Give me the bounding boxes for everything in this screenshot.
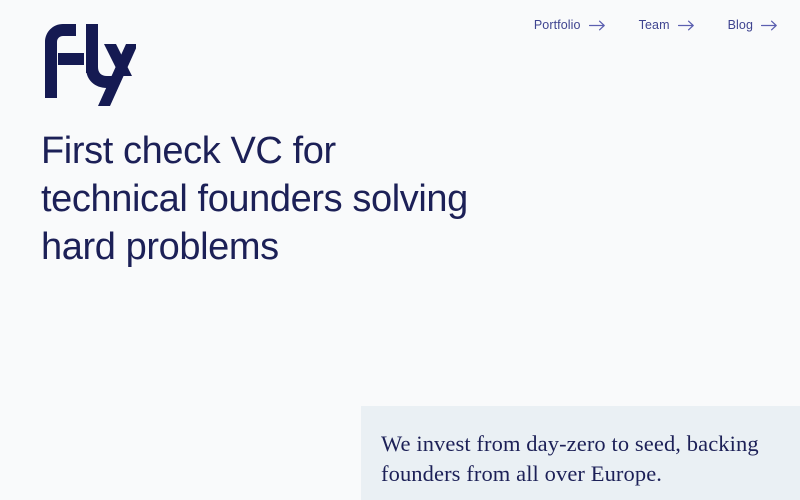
nav-item-team[interactable]: Team bbox=[639, 19, 695, 32]
arrow-right-icon bbox=[678, 20, 695, 31]
arrow-right-icon bbox=[589, 20, 606, 31]
nav-item-blog[interactable]: Blog bbox=[728, 19, 778, 32]
nav-item-team-label: Team bbox=[639, 19, 670, 32]
landing-page: Portfolio Team Blog bbox=[0, 0, 800, 500]
nav-item-blog-label: Blog bbox=[728, 19, 753, 32]
hero-headline: First check VC for technical founders so… bbox=[41, 127, 561, 271]
intro-panel: We invest from day-zero to seed, backing… bbox=[361, 406, 800, 500]
intro-paragraph: We invest from day-zero to seed, backing… bbox=[381, 429, 781, 489]
hero-headline-line-2: technical founders solving bbox=[41, 175, 561, 223]
arrow-right-icon bbox=[761, 20, 778, 31]
fly-logo-icon bbox=[40, 20, 136, 110]
nav-item-portfolio[interactable]: Portfolio bbox=[534, 19, 606, 32]
site-header: Portfolio Team Blog bbox=[0, 0, 800, 115]
hero-headline-line-1: First check VC for bbox=[41, 127, 561, 175]
fly-logo[interactable] bbox=[40, 20, 136, 110]
nav-item-portfolio-label: Portfolio bbox=[534, 19, 581, 32]
main-nav: Portfolio Team Blog bbox=[534, 19, 778, 32]
hero-headline-line-3: hard problems bbox=[41, 223, 561, 271]
